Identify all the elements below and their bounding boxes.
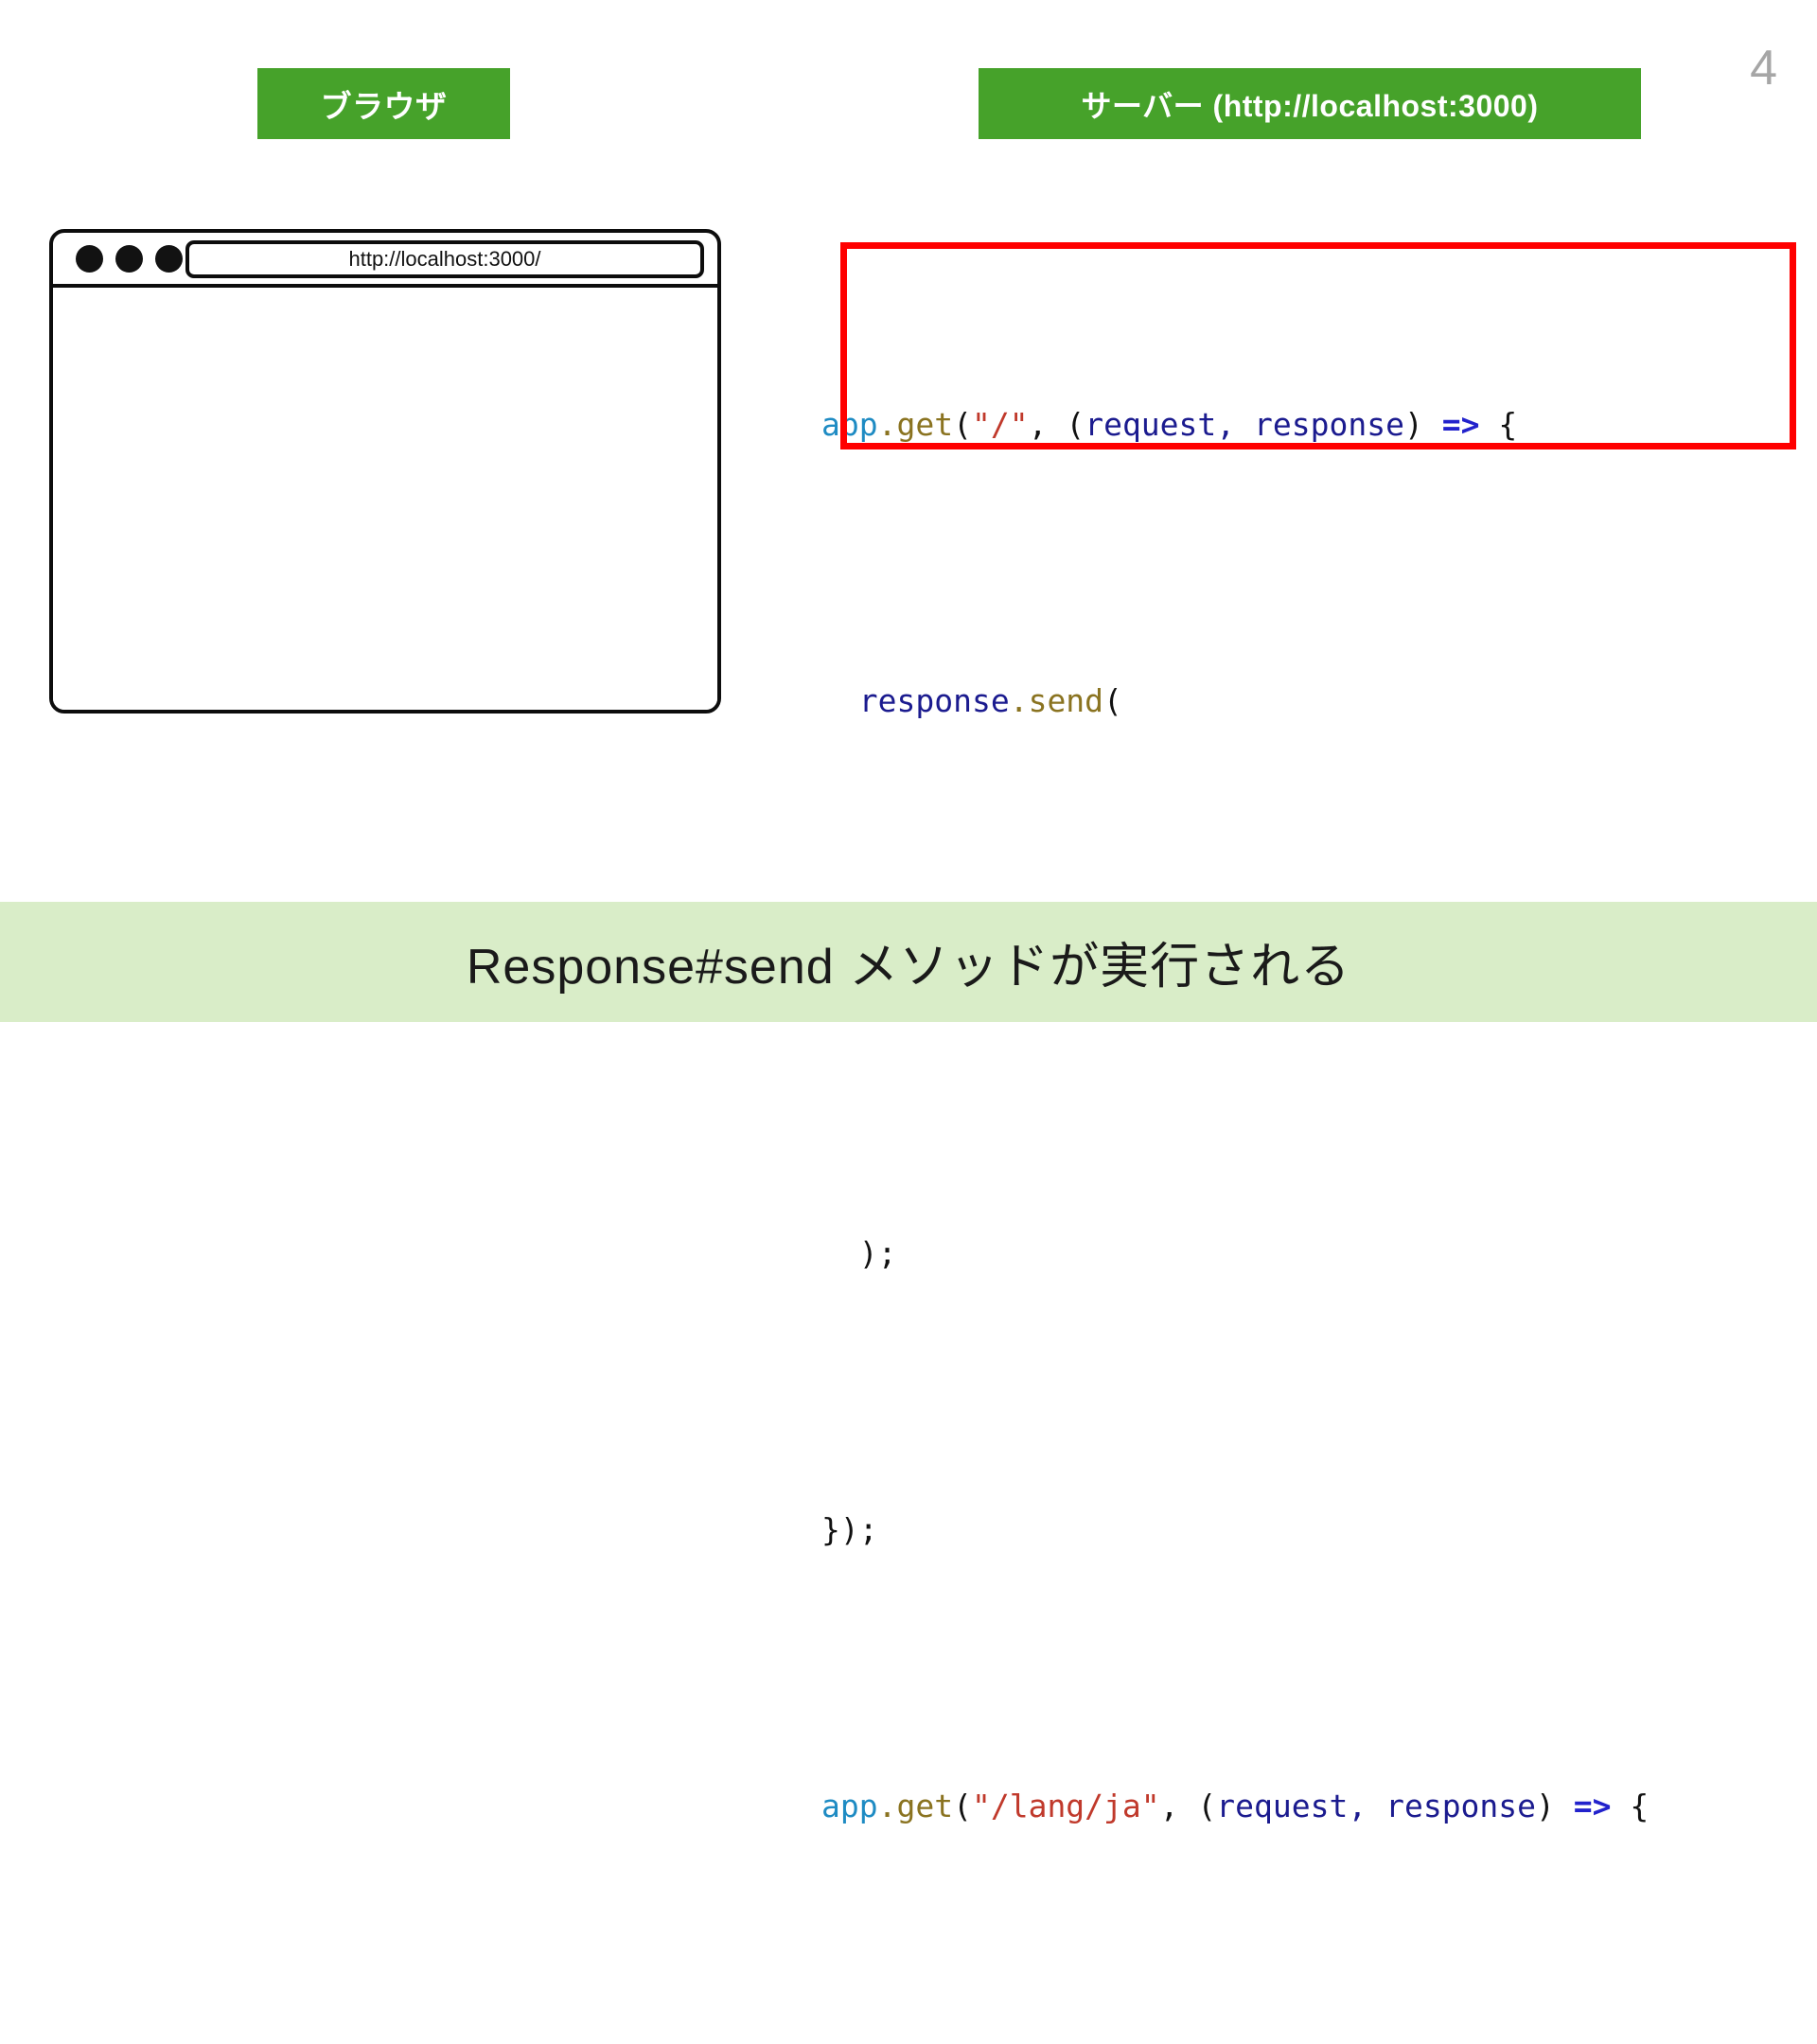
address-bar-url: http://localhost:3000/ (348, 247, 540, 272)
code-token-app: app (821, 406, 878, 443)
maximize-dot-icon[interactable] (155, 245, 183, 273)
code-token-paren-2: ( (953, 1788, 972, 1824)
code-token-send-paren: ( (1103, 682, 1122, 719)
minimize-dot-icon[interactable] (115, 245, 143, 273)
browser-window-mockup: http://localhost:3000/ (49, 229, 721, 714)
code-indent (821, 1235, 859, 1272)
slide-number: 4 (1750, 44, 1777, 93)
code-line-5: }); (821, 1495, 1787, 1564)
close-dot-icon[interactable] (76, 245, 103, 273)
server-section-badge-label: サーバー (http://localhost:3000) (1081, 82, 1538, 126)
code-token-paren-open: ( (1066, 406, 1085, 443)
code-token-route-path-2: "/lang/ja" (972, 1788, 1160, 1824)
code-token-brace: { (1479, 406, 1517, 443)
server-code-block: app.get("/", (request, response) => { re… (821, 183, 1787, 2044)
code-token-brace-2: { (1612, 1788, 1649, 1824)
code-token-app-2: app (821, 1788, 878, 1824)
code-token-space-2 (1555, 1788, 1574, 1824)
code-line-4: ); (821, 1219, 1787, 1288)
code-line-2: response.send( (821, 666, 1787, 735)
code-token-close-send: ); (859, 1235, 897, 1272)
code-token-get: .get (878, 406, 953, 443)
browser-section-badge: ブラウザ (257, 68, 510, 139)
code-token-arrow: => (1442, 406, 1480, 443)
code-line-6: app.get("/lang/ja", (request, response) … (821, 1771, 1787, 1841)
code-token-send: .send (1010, 682, 1103, 719)
code-token-comma-2: , (1160, 1788, 1198, 1824)
code-indent (821, 682, 859, 719)
code-token-route-path: "/" (972, 406, 1029, 443)
code-token-response: response (859, 682, 1010, 719)
window-controls (76, 245, 183, 273)
code-token-params: request, response (1085, 406, 1404, 443)
caption-banner: Response#send メソッドが実行される (0, 902, 1817, 1022)
code-token-paren-close-2: ) (1536, 1788, 1555, 1824)
code-token-params-2: request, response (1216, 1788, 1536, 1824)
caption-text: Response#send メソッドが実行される (467, 926, 1350, 997)
code-token-get-2: .get (878, 1788, 953, 1824)
address-bar[interactable]: http://localhost:3000/ (185, 240, 704, 278)
server-section-badge: サーバー (http://localhost:3000) (979, 68, 1641, 139)
browser-viewport (53, 288, 717, 710)
code-token-comma: , (1029, 406, 1067, 443)
code-token-paren-open-2: ( (1197, 1788, 1216, 1824)
browser-section-badge-label: ブラウザ (321, 81, 448, 127)
browser-titlebar: http://localhost:3000/ (53, 233, 717, 288)
code-token-close-handler: }); (821, 1511, 878, 1548)
code-token-paren: ( (953, 406, 972, 443)
code-token-paren-close: ) (1404, 406, 1423, 443)
code-token-arrow-2: => (1574, 1788, 1612, 1824)
code-line-1: app.get("/", (request, response) => { (821, 390, 1787, 459)
code-token-space (1423, 406, 1442, 443)
